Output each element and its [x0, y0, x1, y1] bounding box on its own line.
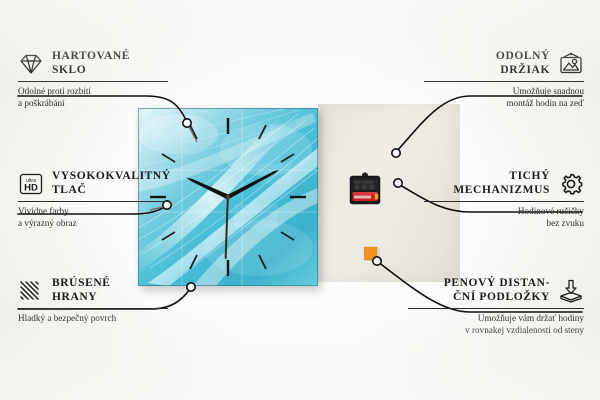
feature-divider	[408, 308, 584, 309]
feature-divider	[18, 81, 168, 82]
diamond-icon	[18, 52, 44, 76]
feature-durable-holder: ODOLNÝ DRŽIAK Umožňuje snadnou montáž ho…	[424, 50, 584, 109]
feature-divider	[18, 308, 168, 309]
feature-subtitle: Umožňuje snadnou montáž hodin na zeď	[424, 86, 584, 109]
clock-center-pin	[226, 195, 230, 199]
polished-edges-icon	[18, 279, 44, 303]
feature-subtitle: Umožňuje vám držať hodiny v rovnakej vzd…	[408, 313, 584, 336]
feature-title: TICHÝ MECHANIZMUS	[453, 170, 550, 197]
foam-spacer-pad	[364, 246, 381, 262]
foam-pad-arrow-icon	[558, 279, 584, 303]
ultra-hd-icon: ultra HD	[18, 172, 44, 196]
clock-mechanism	[345, 172, 385, 210]
picture-hanger-icon	[558, 52, 584, 76]
feature-divider	[18, 201, 168, 202]
feature-title: VYSOKOKVALITNÝ TLAČ	[52, 170, 171, 197]
feature-header: TICHÝ MECHANIZMUS	[424, 170, 584, 197]
feature-subtitle: Vivídne farby a výrazný obraz	[18, 206, 168, 229]
ultra-hd-icon-big-label: HD	[24, 182, 38, 193]
feature-header: BRÚSENÉ HRANY	[18, 277, 168, 304]
feature-subtitle: Odolné proti rozbití a poškrábání	[18, 86, 168, 109]
feature-subtitle: Hodinové ručičky bez zvuku	[424, 206, 584, 229]
feature-high-quality-print: ultra HD VYSOKOKVALITNÝ TLAČ Vivídne far…	[18, 170, 168, 229]
feature-divider	[424, 81, 584, 82]
feature-title: ODOLNÝ DRŽIAK	[496, 50, 550, 77]
feature-header: PENOVÝ DISTAN- ČNÍ PODLOŽKY	[408, 277, 584, 304]
feature-header: ultra HD VYSOKOKVALITNÝ TLAČ	[18, 170, 168, 197]
feature-title: HARTOVANÉ SKLO	[52, 50, 130, 77]
feature-title: PENOVÝ DISTAN- ČNÍ PODLOŽKY	[444, 277, 550, 304]
feature-tempered-glass: HARTOVANÉ SKLO Odolné proti rozbití a po…	[18, 50, 168, 109]
infographic-canvas: HARTOVANÉ SKLO Odolné proti rozbití a po…	[0, 0, 600, 400]
feature-header: HARTOVANÉ SKLO	[18, 50, 168, 77]
feature-title: BRÚSENÉ HRANY	[52, 277, 111, 304]
feature-foam-spacers: PENOVÝ DISTAN- ČNÍ PODLOŽKY Umožňuje vám…	[408, 277, 584, 336]
gear-icon	[558, 172, 584, 196]
feature-divider	[424, 201, 584, 202]
feature-silent-mechanism: TICHÝ MECHANIZMUS Hodinové ručičky bez z…	[424, 170, 584, 229]
feature-header: ODOLNÝ DRŽIAK	[424, 50, 584, 77]
feature-subtitle: Hladký a bezpečný povrch	[18, 313, 168, 325]
feature-polished-edges: BRÚSENÉ HRANY Hladký a bezpečný povrch	[18, 277, 168, 325]
